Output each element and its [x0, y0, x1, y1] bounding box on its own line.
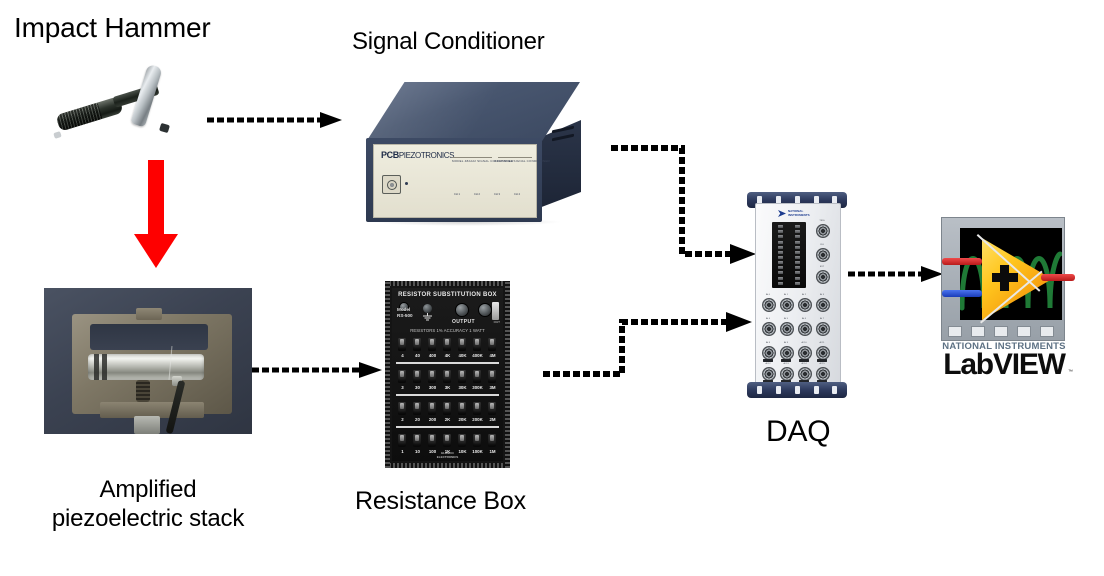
resistance-switch-label: 3 [396, 385, 409, 390]
resistance-box-row-divider [396, 426, 499, 428]
resistance-switch[interactable] [443, 370, 451, 383]
daq-screw-terminal[interactable] [795, 277, 800, 280]
daq-screw-terminal[interactable] [795, 230, 800, 233]
conditioner-power-led [405, 182, 408, 185]
stack-actuator-band [94, 354, 99, 380]
daq-bnc-label: AI 3 [814, 294, 830, 296]
resistance-box-switch-row: 3 30 300 3K 30K 300K 3M [396, 367, 499, 394]
conditioner-top-sheen [366, 82, 580, 142]
resistance-switch[interactable] [458, 434, 466, 447]
resistance-switch-label: 30K [456, 385, 469, 390]
conditioner-channel-legend: CH 2 [474, 193, 480, 196]
daq-screw-terminal[interactable] [778, 225, 783, 228]
film-perforation-icon [1040, 326, 1054, 337]
daq-bnc-label: AI 12 [760, 363, 776, 365]
daq-terminal-block[interactable] [772, 222, 806, 288]
label-amplified-stack-line2: piezoelectric stack [28, 505, 268, 533]
daq-bnc-label: AI 1 [778, 294, 794, 296]
resistance-switch[interactable] [428, 434, 436, 447]
resistance-box-output-jack[interactable] [455, 303, 469, 317]
conditioner-panel-rule [452, 157, 492, 158]
daq-bracket-slot [814, 386, 819, 394]
labview-plus-icon [1000, 265, 1009, 291]
resistance-box-terminal-block[interactable] [492, 302, 499, 320]
resistance-box-switch-row: 4 40 400 4K 40K 400K 4M [396, 335, 499, 362]
resistance-switch[interactable] [398, 402, 406, 415]
film-perforation-icon [948, 326, 962, 337]
hammer-grip [56, 103, 103, 132]
stack-actuator-band [102, 354, 107, 380]
arrow-stack-to-resistance-box [250, 358, 385, 382]
resistance-switch[interactable] [473, 370, 481, 383]
arrow-resistance-box-to-daq [540, 304, 760, 384]
daq-bracket-slot [776, 386, 781, 394]
daq-screw-terminal[interactable] [778, 282, 783, 285]
label-resistance-box: Resistance Box [355, 487, 526, 516]
daq-bnc-connector[interactable] [780, 367, 794, 381]
resistance-switch-label: 400K [471, 353, 484, 358]
conditioner-front-panel: PCBPIEZOTRONICS MODEL 482A22 SIGNAL COND… [373, 144, 537, 218]
arrow-daq-to-labview [846, 262, 946, 286]
conditioner-channel-legend: CH 1 [454, 193, 460, 196]
resistance-switch-label: 4K [441, 353, 454, 358]
hammer-tip [159, 123, 170, 133]
resistance-switch-label: 200K [471, 417, 484, 422]
resistance-box-face: RESISTOR SUBSTITUTION BOX ModelRS-500 OU… [392, 288, 503, 461]
daq-bnc-connector[interactable] [762, 346, 776, 360]
daq-screw-terminal[interactable] [795, 266, 800, 269]
resistance-box-model: ModelRS-500 [397, 307, 413, 319]
daq-bnc-label: AI 8 [760, 342, 776, 344]
conditioner-brand-logo: PCBPIEZOTRONICS [381, 150, 454, 160]
resistance-switch[interactable] [488, 370, 496, 383]
daq-screw-terminal[interactable] [778, 261, 783, 264]
daq-bnc-connector[interactable] [816, 270, 830, 284]
resistance-switch-label: 30 [411, 385, 424, 390]
ni-eagle-mark-icon [778, 210, 786, 217]
daq-bracket-slot [832, 386, 837, 394]
stack-frame-window [90, 324, 208, 350]
resistance-box-model-line1: Model [397, 307, 410, 312]
arrow-conditioner-to-daq [608, 130, 760, 270]
hammer-butt-connector [53, 131, 61, 139]
resistance-switch[interactable] [443, 402, 451, 415]
daq-bnc-connector[interactable] [798, 346, 812, 360]
label-amplified-stack-line1: Amplified [48, 476, 248, 504]
resistance-switch[interactable] [398, 338, 406, 351]
daq-bnc-label: AI 2 [796, 294, 812, 296]
daq-bnc-label: AI 11 [814, 342, 830, 344]
daq-screw-terminal[interactable] [778, 266, 783, 269]
daq-bnc-connector[interactable] [798, 367, 812, 381]
conditioner-panel-rule [498, 157, 532, 158]
resistance-box-switch-row: 2 20 200 2K 20K 200K 2M [396, 399, 499, 426]
resistance-switch[interactable] [488, 434, 496, 447]
daq-terminal-column[interactable] [789, 222, 806, 288]
conditioner-brand-piezotronics: PIEZOTRONICS [399, 151, 454, 160]
resistance-switch-label: 4 [396, 353, 409, 358]
resistance-switch[interactable] [443, 338, 451, 351]
resistance-switch[interactable] [458, 370, 466, 383]
resistance-switch[interactable] [473, 402, 481, 415]
arrow-hammer-to-stack [130, 160, 182, 270]
resistance-box-spec: RESISTORS 1% ACCURACY 1 WATT [392, 328, 503, 333]
daq-bnc-label: AI 5 [778, 318, 794, 320]
resistance-box-brand: ELENCOELECTRONICS [392, 451, 503, 459]
label-impact-hammer: Impact Hammer [14, 12, 211, 44]
resistance-switch[interactable] [473, 434, 481, 447]
label-signal-conditioner: Signal Conditioner [352, 28, 545, 56]
daq-screw-terminal[interactable] [778, 241, 783, 244]
resistance-switch[interactable] [398, 370, 406, 383]
conditioner-channel-legend: CH 4 [514, 193, 520, 196]
resistance-switch-label: 20K [456, 417, 469, 422]
daq-screw-terminal[interactable] [778, 271, 783, 274]
stack-mount-post [134, 416, 160, 434]
resistance-switch-label: 4M [486, 353, 499, 358]
daq-bnc-connector[interactable] [798, 298, 812, 312]
signal-conditioner-photo: PCBPIEZOTRONICS MODEL 482A22 SIGNAL COND… [346, 82, 598, 228]
resistance-switch[interactable] [443, 434, 451, 447]
daq-bracket-slot [795, 386, 800, 394]
daq-bnc-connector[interactable] [816, 322, 830, 336]
resistance-switch[interactable] [473, 338, 481, 351]
resistance-switch[interactable] [413, 434, 421, 447]
daq-brand-line2: INSTRUMENTS [788, 214, 810, 217]
resistance-switch-label: 40K [456, 353, 469, 358]
resistance-switch[interactable] [488, 338, 496, 351]
daq-screw-terminal[interactable] [778, 277, 783, 280]
daq-label-tab [763, 359, 773, 362]
arrow-hammer-to-conditioner [205, 108, 345, 132]
daq-bnc-connector[interactable] [762, 322, 776, 336]
daq-bnc-label: AI 0 [760, 294, 776, 296]
daq-screw-terminal[interactable] [795, 225, 800, 228]
labview-logo: NATIONAL INSTRUMENTS LabVIEW ™ [933, 217, 1075, 377]
daq-body: NATIONAL INSTRUMENTS [755, 203, 841, 389]
labview-trademark-symbol: ™ [1068, 369, 1073, 375]
daq-screw-terminal[interactable] [795, 282, 800, 285]
resistance-box-out-label: OUT [494, 320, 500, 324]
stack-frame-notch [136, 308, 162, 320]
resistance-switch[interactable] [413, 338, 421, 351]
conditioner-panel-desc-text: 4 CHANNEL SIGNAL CONDITIONER [494, 159, 550, 163]
resistance-box-output-label: OUTPUT [452, 319, 475, 325]
daq-bnc-label: AI 4 [760, 318, 776, 320]
resistance-box-ground-jack[interactable] [423, 304, 432, 313]
resistance-switch-label: 2K [441, 417, 454, 422]
national-instruments-logo-icon: NATIONAL INSTRUMENTS [778, 209, 818, 218]
daq-bracket-slot [757, 386, 762, 394]
resistance-box-brand-line2: ELECTRONICS [437, 455, 459, 459]
resistance-switch[interactable] [428, 402, 436, 415]
resistance-switch[interactable] [413, 370, 421, 383]
daq-screw-terminal[interactable] [795, 271, 800, 274]
daq-bnc-label: EXT [814, 266, 830, 268]
resistance-switch-label: 3M [486, 385, 499, 390]
daq-screw-terminal[interactable] [795, 261, 800, 264]
daq-bnc-connector[interactable] [816, 367, 830, 381]
resistance-switch[interactable] [413, 402, 421, 415]
resistance-box-model-line2: RS-500 [397, 313, 413, 318]
labview-red-lead-output [1041, 274, 1075, 281]
daq-screw-terminal[interactable] [778, 230, 783, 233]
daq-bnc-connector[interactable] [816, 298, 830, 312]
daq-bnc-label: AI 6 [796, 318, 812, 320]
resistance-switch-label: 200 [426, 417, 439, 422]
resistance-switch-label: 20 [411, 417, 424, 422]
daq-label-tab [799, 359, 809, 362]
resistance-switch[interactable] [428, 370, 436, 383]
ground-symbol-icon [422, 313, 433, 321]
labview-blue-lead [942, 290, 982, 297]
resistance-box-photo: RESISTOR SUBSTITUTION BOX ModelRS-500 OU… [385, 281, 510, 468]
film-perforation-icon [1017, 326, 1031, 337]
daq-bottom-bracket [747, 382, 847, 398]
daq-label-tab [781, 359, 791, 362]
daq-brand-text: NATIONAL INSTRUMENTS [788, 210, 810, 217]
daq-screw-terminal[interactable] [778, 251, 783, 254]
labview-product-text: LabVIEW [933, 350, 1075, 380]
film-perforation-icon [971, 326, 985, 337]
daq-bnc-label: AI 7 [814, 318, 830, 320]
daq-terminal-column[interactable] [772, 222, 789, 288]
amplified-piezoelectric-stack-photo [44, 288, 252, 434]
resistance-box-output-jack[interactable] [478, 303, 492, 317]
daq-bnc-connector[interactable] [816, 248, 830, 262]
daq-bnc-connector[interactable] [762, 367, 776, 381]
conditioner-brand-pcb: PCB [381, 150, 399, 160]
resistance-switch[interactable] [488, 402, 496, 415]
conditioner-bnc-connector[interactable] [382, 175, 401, 194]
daq-screw-terminal[interactable] [795, 241, 800, 244]
resistance-switch[interactable] [458, 338, 466, 351]
resistance-box-row-divider [396, 362, 499, 364]
daq-bnc-label: CLK [814, 244, 830, 246]
resistance-switch-label: 2M [486, 417, 499, 422]
daq-screw-terminal[interactable] [778, 235, 783, 238]
daq-bnc-connector[interactable] [780, 298, 794, 312]
daq-screw-terminal[interactable] [778, 246, 783, 249]
daq-screw-terminal[interactable] [795, 256, 800, 259]
stack-spring [136, 380, 150, 402]
daq-bnc-connector[interactable] [780, 322, 794, 336]
daq-bnc-connector[interactable] [816, 224, 830, 238]
daq-screw-terminal[interactable] [795, 251, 800, 254]
daq-bnc-label: AI 10 [796, 342, 812, 344]
resistance-switch[interactable] [428, 338, 436, 351]
resistance-switch-label: 300K [471, 385, 484, 390]
resistance-switch-label: 3K [441, 385, 454, 390]
daq-bnc-label: AI 9 [778, 342, 794, 344]
daq-bnc-connector[interactable] [780, 346, 794, 360]
daq-screw-terminal[interactable] [795, 246, 800, 249]
resistance-switch-label: 300 [426, 385, 439, 390]
daq-bnc-label: AI 13 [778, 363, 794, 365]
daq-label-tab [817, 359, 827, 362]
resistance-box-row-divider [396, 394, 499, 396]
daq-bnc-connector[interactable] [816, 346, 830, 360]
daq-bnc-connector[interactable] [798, 322, 812, 336]
daq-screw-terminal[interactable] [795, 235, 800, 238]
daq-photo: NATIONAL INSTRUMENTS [755, 192, 839, 398]
daq-bnc-label: AI 15 [814, 363, 830, 365]
daq-bnc-label: TRIG [814, 220, 830, 222]
resistance-box-title: RESISTOR SUBSTITUTION BOX [392, 292, 503, 298]
labview-red-lead-top [942, 258, 982, 265]
daq-bnc-connector[interactable] [762, 298, 776, 312]
resistance-switch-label: 2 [396, 417, 409, 422]
conditioner-channel-legend: CH 3 [494, 193, 500, 196]
resistance-switch[interactable] [458, 402, 466, 415]
daq-screw-terminal[interactable] [778, 256, 783, 259]
label-daq: DAQ [766, 415, 830, 450]
impact-hammer-photo [52, 62, 204, 147]
diagram-canvas: Impact Hammer Signal Conditioner Amplifi… [0, 0, 1104, 576]
resistance-switch[interactable] [398, 434, 406, 447]
resistance-switch-label: 400 [426, 353, 439, 358]
film-perforation-icon [994, 326, 1008, 337]
resistance-switch-label: 40 [411, 353, 424, 358]
daq-bnc-label: AI 14 [796, 363, 812, 365]
